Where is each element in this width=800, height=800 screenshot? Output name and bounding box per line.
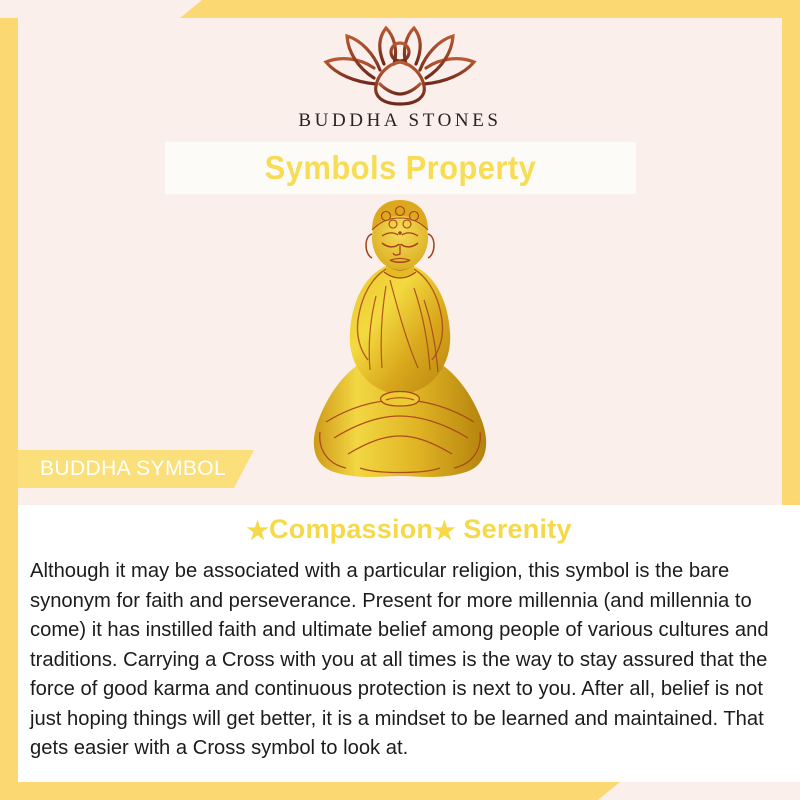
- frame-bar-top: [180, 0, 800, 18]
- brand-logo: BUDDHA STONES: [0, 22, 800, 132]
- category-badge: BUDDHA SYMBOL: [18, 450, 254, 488]
- attributes-subtitle: ★Compassion★ Serenity: [18, 514, 800, 546]
- attribute-serenity: Serenity: [463, 514, 571, 544]
- category-badge-label: BUDDHA SYMBOL: [18, 457, 226, 481]
- lotus-meditation-icon: [0, 22, 800, 108]
- star-icon-one: ★: [246, 517, 269, 545]
- attribute-compassion: Compassion: [269, 514, 433, 544]
- buddha-statue-image: [290, 200, 510, 490]
- content-panel: ★Compassion★ Serenity Although it may be…: [18, 505, 800, 782]
- title-banner: Symbols Property: [165, 142, 636, 194]
- poster-root: BUDDHA STONES Symbols Property: [0, 0, 800, 800]
- brand-name: BUDDHA STONES: [0, 110, 800, 132]
- star-icon-two: ★: [433, 517, 456, 545]
- frame-bar-bottom: [0, 782, 620, 800]
- page-title: Symbols Property: [265, 149, 536, 187]
- frame-bar-left: [0, 18, 18, 782]
- description-paragraph: Although it may be associated with a par…: [30, 556, 777, 763]
